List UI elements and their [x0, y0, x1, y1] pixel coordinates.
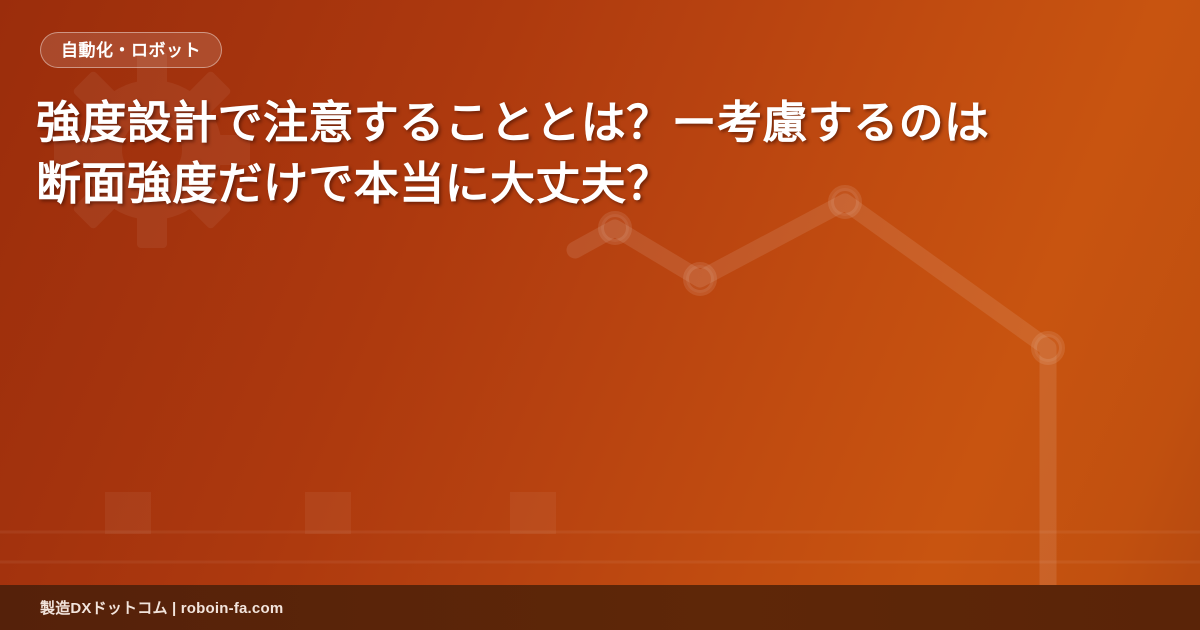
footer-bar: 製造DXドットコム | roboin-fa.com	[0, 585, 1200, 630]
page-title-line-2: 断面強度だけで本当に大丈夫？	[36, 153, 1164, 214]
chart-gridlines	[0, 532, 1200, 562]
chart-bars	[105, 492, 556, 534]
footer-site-credit: 製造DXドットコム | roboin-fa.com	[40, 597, 283, 618]
category-badge-label: 自動化・ロボット	[61, 42, 201, 59]
chart-line	[575, 202, 1048, 630]
og-image-card: 自動化・ロボット 強度設計で注意することとは？ー考慮するのは 断面強度だけで本当…	[0, 0, 1200, 630]
page-title-line-1: 強度設計で注意することとは？ー考慮するのは	[36, 92, 1164, 153]
category-badge[interactable]: 自動化・ロボット	[40, 32, 222, 68]
page-title: 強度設計で注意することとは？ー考慮するのは 断面強度だけで本当に大丈夫？	[36, 92, 1164, 214]
